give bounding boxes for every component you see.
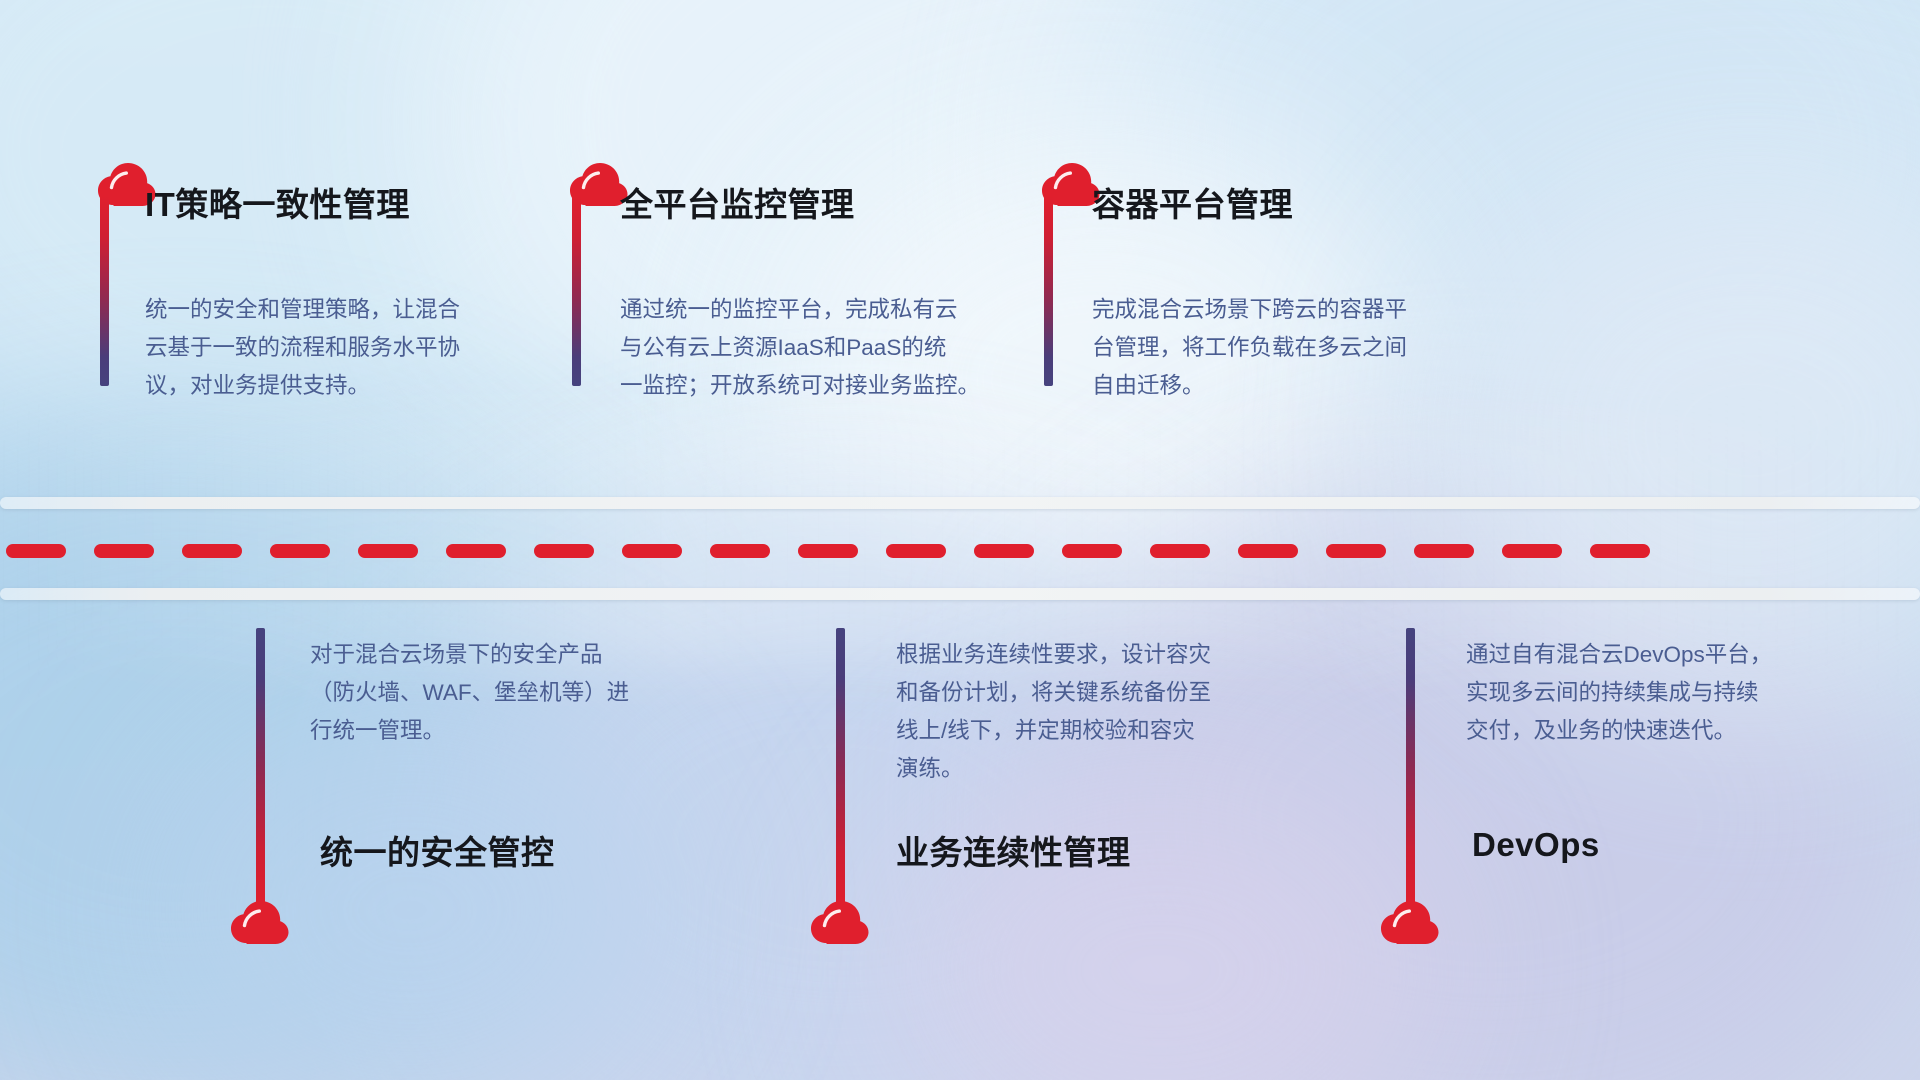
connector-bar xyxy=(836,628,845,908)
background-sheen xyxy=(0,420,1920,660)
connector-bar xyxy=(1406,628,1415,908)
card-title: 全平台监控管理 xyxy=(620,178,855,226)
connector-bar xyxy=(256,628,265,908)
connector-bar xyxy=(1044,196,1053,386)
divider-dash xyxy=(1502,544,1562,558)
card-title: 容器平台管理 xyxy=(1092,178,1293,226)
connector-bar xyxy=(572,196,581,386)
divider-dashed-line xyxy=(0,544,1920,558)
divider-dash xyxy=(974,544,1034,558)
cloud-icon xyxy=(1379,898,1441,946)
divider-dash xyxy=(534,544,594,558)
card-body: 通过自有混合云DevOps平台， 实现多云间的持续集成与持续 交付，及业务的快速… xyxy=(1466,636,1866,750)
divider-dash xyxy=(358,544,418,558)
card-title: 统一的安全管控 xyxy=(320,826,555,874)
divider-dash xyxy=(1326,544,1386,558)
divider-line-bottom xyxy=(0,588,1920,600)
connector-bar xyxy=(100,196,109,386)
divider-dash xyxy=(798,544,858,558)
divider-dash xyxy=(1414,544,1474,558)
divider-dash xyxy=(270,544,330,558)
card-body: 根据业务连续性要求，设计容灾 和备份计划，将关键系统备份至 线上/线下，并定期校… xyxy=(896,636,1316,788)
divider-dash xyxy=(182,544,242,558)
divider-dash xyxy=(710,544,770,558)
cloud-icon xyxy=(809,898,871,946)
card-body: 通过统一的监控平台，完成私有云 与公有云上资源IaaS和PaaS的统 一监控；开… xyxy=(620,291,1010,405)
card-body: 统一的安全和管理策略，让混合 云基于一致的流程和服务水平协 议，对业务提供支持。 xyxy=(145,291,515,405)
divider-dash xyxy=(886,544,946,558)
cloud-icon xyxy=(229,898,291,946)
card-title: IT策略一致性管理 xyxy=(145,178,410,226)
divider-dash xyxy=(1062,544,1122,558)
divider-line-top xyxy=(0,497,1920,509)
divider-dash xyxy=(1150,544,1210,558)
divider-dash xyxy=(1590,544,1650,558)
divider-dash xyxy=(446,544,506,558)
divider-dash xyxy=(94,544,154,558)
card-body: 完成混合云场景下跨云的容器平 台管理，将工作负载在多云之间 自由迁移。 xyxy=(1092,291,1472,405)
divider-dash xyxy=(6,544,66,558)
card-body: 对于混合云场景下的安全产品 （防火墙、WAF、堡垒机等）进 行统一管理。 xyxy=(310,636,720,750)
divider-dash xyxy=(1238,544,1298,558)
divider-dash xyxy=(622,544,682,558)
card-title: 业务连续性管理 xyxy=(896,826,1131,874)
card-title: DevOps xyxy=(1472,826,1600,864)
infographic-canvas: IT策略一致性管理 统一的安全和管理策略，让混合 云基于一致的流程和服务水平协 … xyxy=(0,0,1920,1080)
